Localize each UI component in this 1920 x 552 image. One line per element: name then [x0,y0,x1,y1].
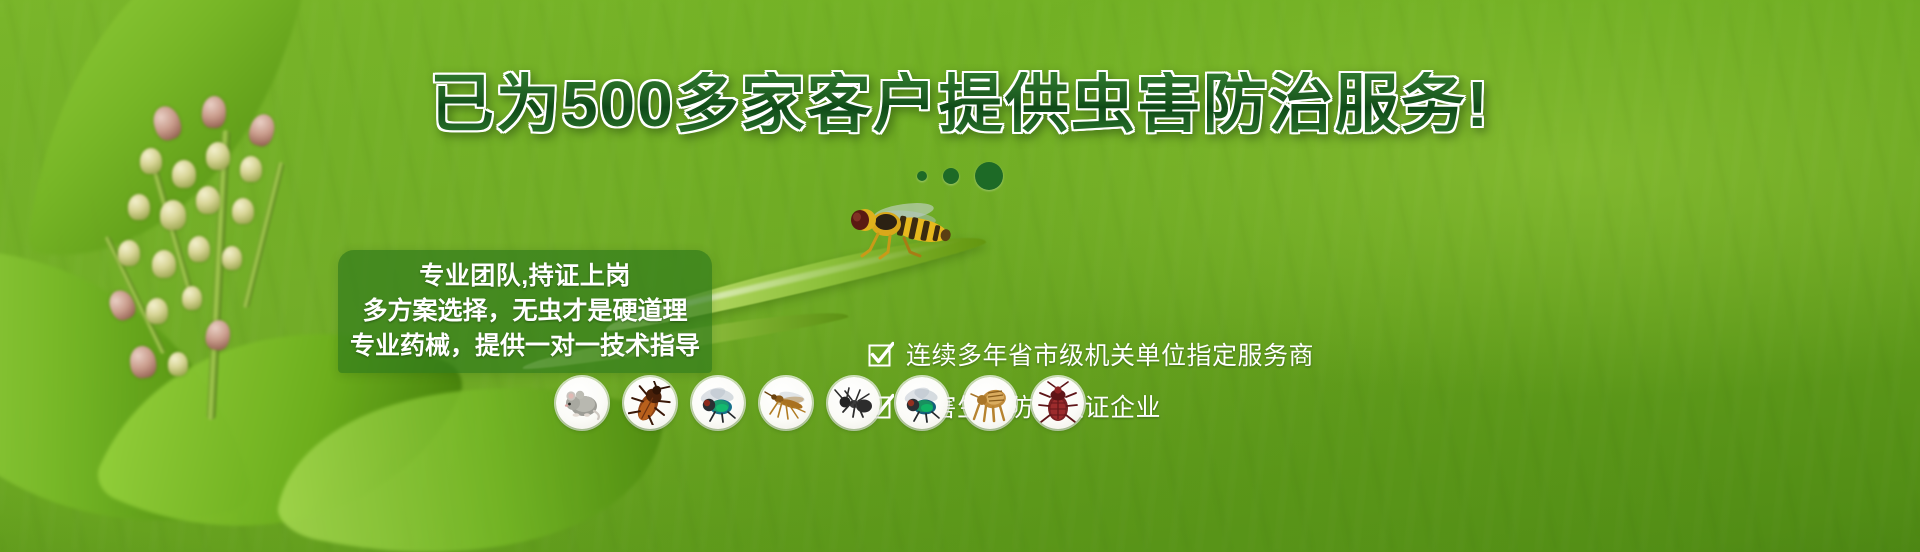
page-title: 已为500多家客户提供虫害防治服务! [0,72,1920,136]
blowfly-icon [900,381,944,425]
mosquito-icon [764,381,808,425]
checkbox-checked-icon [868,341,894,367]
pest-icon-fly[interactable]: 苍蝇 [692,377,744,429]
pest-icon-cockroach[interactable]: 蟑螂 [624,377,676,429]
pest-icon-flea[interactable]: 跳蚤 [964,377,1016,429]
pest-icon-mouse[interactable]: 鼠 [556,377,608,429]
dot-small-icon [917,171,927,181]
pest-icon-bedbug[interactable]: 臭虫 [1032,377,1084,429]
selling-point-line-1: 专业团队,持证上岗 [419,262,630,291]
selling-points-text: 专业团队,持证上岗 多方案选择，无虫才是硬道理 专业药械，提供一对一技术指导 [338,250,712,373]
promo-banner: 已为500多家客户提供虫害防治服务! 专业团队,持证上岗 多方案选择，无虫才是硬… [0,0,1920,552]
pest-icon-mosquito[interactable]: 蚊 [760,377,812,429]
fly-icon [696,381,740,425]
flea-icon [968,381,1012,425]
list-item: 连续多年省市级机关单位指定服务商 [868,336,1314,372]
selling-point-line-2: 多方案选择，无虫才是硬道理 [362,297,687,326]
pest-icon-ant[interactable]: 蚂蚁 [828,377,880,429]
dot-large-icon [975,162,1003,190]
bedbug-icon [1036,381,1080,425]
selling-point-line-3: 专业药械，提供一对一技术指导 [350,332,700,361]
ant-icon [832,381,876,425]
dot-medium-icon [943,168,959,184]
pest-icon-blowfly[interactable]: 绿头蝇 [896,377,948,429]
credential-label: 连续多年省市级机关单位指定服务商 [906,336,1314,372]
decorative-dots [0,162,1920,190]
mouse-icon [560,381,604,425]
pest-type-list: 鼠 蟑螂 [556,377,1556,429]
cockroach-icon [628,381,672,425]
